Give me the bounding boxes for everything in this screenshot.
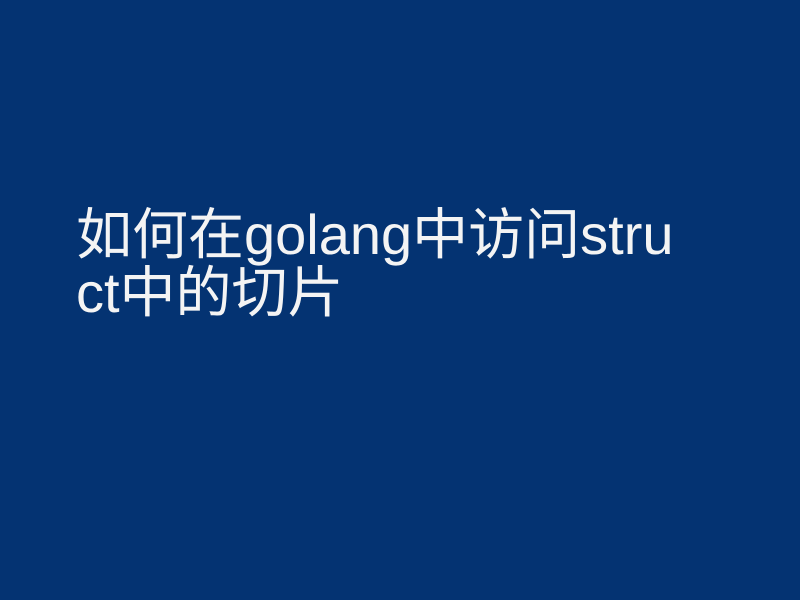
headline-block: 如何在golang中访问struct中的切片 — [76, 206, 676, 322]
title-card-canvas: 如何在golang中访问struct中的切片 — [0, 0, 800, 600]
headline-title: 如何在golang中访问struct中的切片 — [76, 206, 676, 322]
